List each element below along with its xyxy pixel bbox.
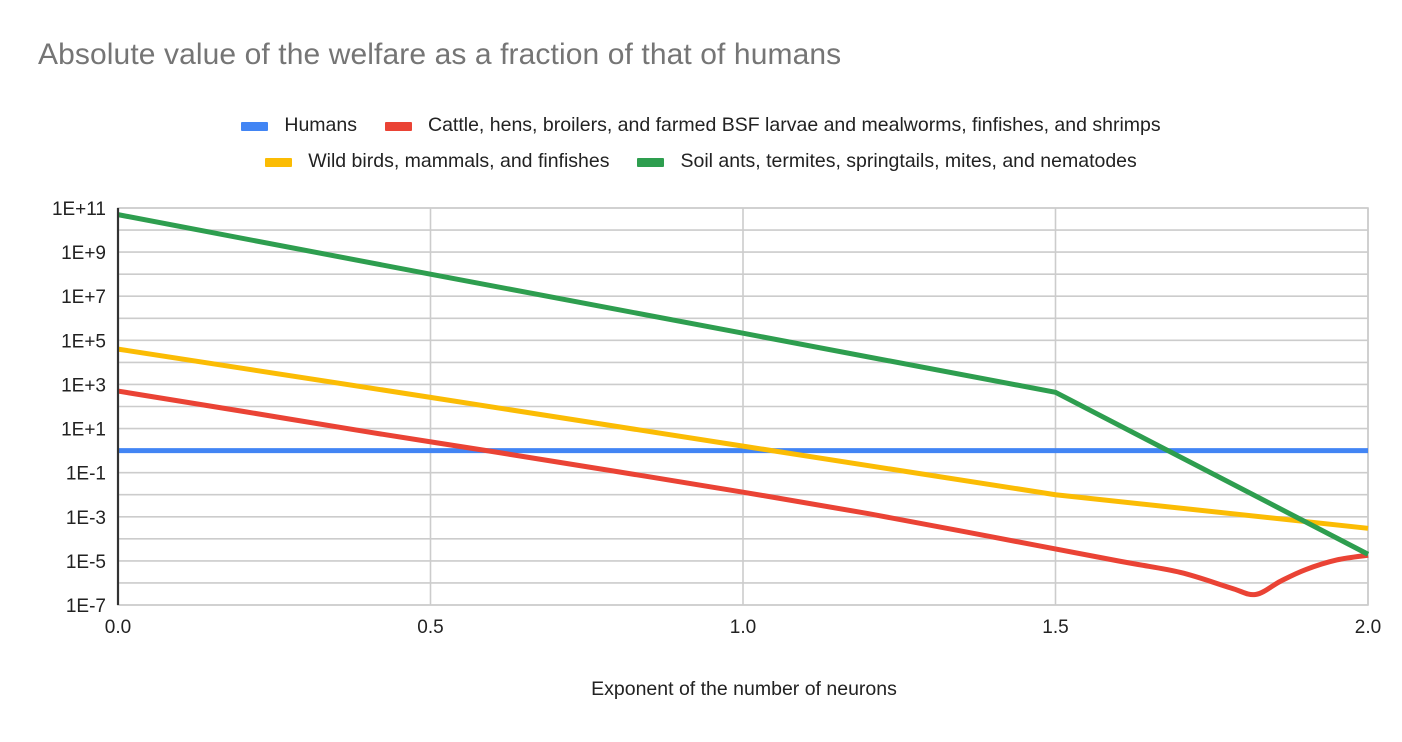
x-axis-tick-labels: 0.00.51.01.52.0 <box>105 617 1381 638</box>
y-axis-tick-label: 1E+5 <box>61 331 106 352</box>
y-axis-tick-label: 1E-3 <box>66 508 106 529</box>
y-axis-tick-label: 1E-1 <box>66 464 106 485</box>
y-axis-tick-label: 1E-5 <box>66 552 106 573</box>
x-axis-tick-label: 2.0 <box>1355 617 1381 638</box>
y-axis-tick-label: 1E+1 <box>61 420 106 441</box>
x-axis-tick-label: 0.0 <box>105 617 131 638</box>
x-axis-tick-label: 1.5 <box>1042 617 1068 638</box>
y-axis-tick-label: 1E+7 <box>61 287 106 308</box>
gridlines <box>118 208 1368 605</box>
chart-container: Absolute value of the welfare as a fract… <box>0 0 1402 742</box>
y-axis-tick-label: 1E+11 <box>52 199 106 220</box>
y-axis-tick-label: 1E+9 <box>61 243 106 264</box>
plot-area-wrapper: 1E-71E-51E-31E-11E+11E+31E+51E+71E+91E+1… <box>0 0 1402 742</box>
x-axis-title: Exponent of the number of neurons <box>591 678 897 700</box>
x-axis-tick-label: 1.0 <box>730 617 756 638</box>
x-axis-tick-label: 0.5 <box>417 617 443 638</box>
y-axis-tick-label: 1E-7 <box>66 596 106 617</box>
y-axis-tick-labels: 1E-71E-51E-31E-11E+11E+31E+51E+71E+91E+1… <box>52 199 106 617</box>
plot-svg: 1E-71E-51E-31E-11E+11E+31E+51E+71E+91E+1… <box>0 0 1402 742</box>
y-axis-tick-label: 1E+3 <box>61 375 106 396</box>
